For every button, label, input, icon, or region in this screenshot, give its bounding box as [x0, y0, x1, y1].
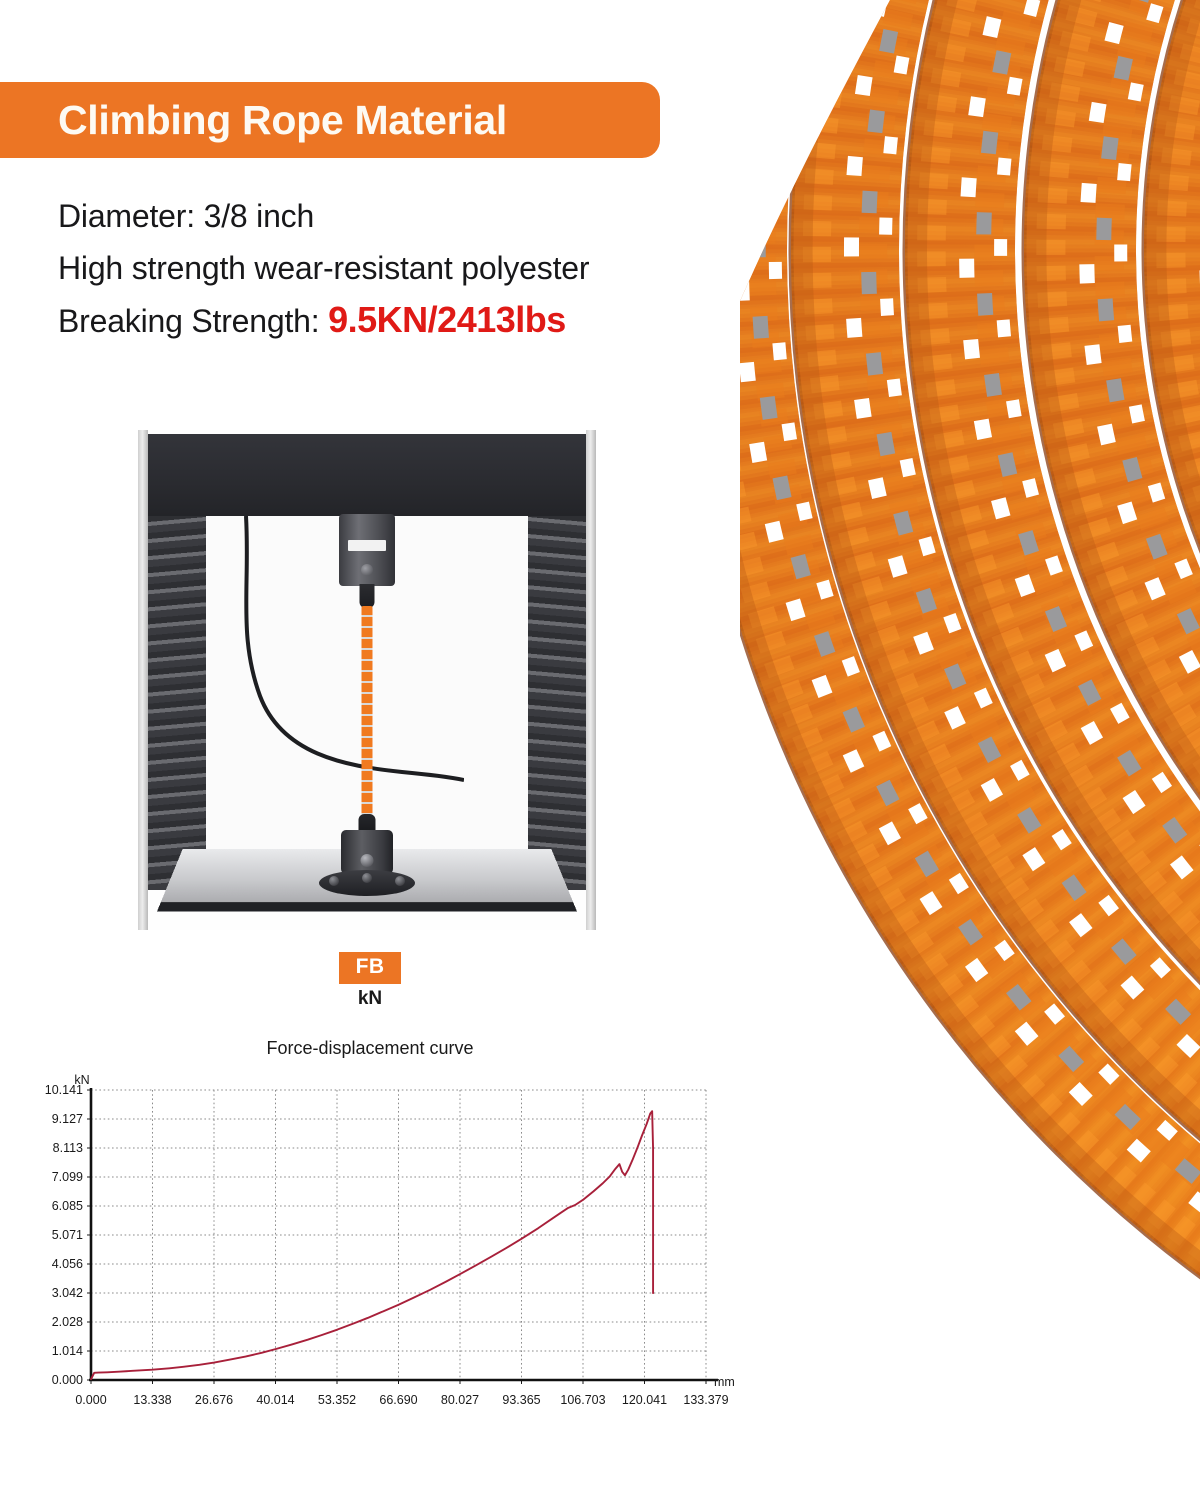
- chart-x-tick: 0.000: [75, 1393, 106, 1407]
- machine-foam-wall-left: [148, 516, 206, 890]
- load-cell-bolt: [361, 854, 374, 867]
- chart-x-tick: 26.676: [195, 1393, 233, 1407]
- chart-axis-lines: [89, 1088, 718, 1380]
- machine-foam-wall-right: [528, 516, 586, 890]
- chart-y-tick: 0.000: [52, 1373, 83, 1387]
- grip-slot: [348, 540, 386, 551]
- spec-breaking-label: Breaking Strength:: [58, 303, 328, 339]
- page-title: Climbing Rope Material: [0, 100, 507, 141]
- spec-material-text: High strength wear-resistant polyester: [58, 250, 589, 286]
- flange-bolt: [329, 876, 339, 886]
- left-content-column: Climbing Rope Material Diameter: 3/8 inc…: [0, 0, 740, 1500]
- chart-x-tick-labels: 0.00013.33826.67640.01453.35266.69080.02…: [75, 1393, 728, 1407]
- spec-list: Diameter: 3/8 inch High strength wear-re…: [58, 190, 718, 347]
- chart-x-tick: 13.338: [133, 1393, 171, 1407]
- spec-diameter-text: Diameter: 3/8 inch: [58, 198, 314, 234]
- chart-x-tick: 120.041: [622, 1393, 667, 1407]
- machine-crosshead: [148, 434, 586, 516]
- spec-material: High strength wear-resistant polyester: [58, 242, 718, 294]
- chart-y-tick: 7.099: [52, 1170, 83, 1184]
- spec-diameter: Diameter: 3/8 inch: [58, 190, 718, 242]
- chart-y-tick-labels: 0.0001.0142.0283.0424.0565.0716.0857.099…: [45, 1083, 83, 1387]
- machine-frame-rail-right: [586, 430, 596, 930]
- chart-x-axis-unit: mm: [714, 1375, 735, 1389]
- fb-unit-label: kN: [0, 988, 740, 1010]
- chart-line-series: [91, 1111, 653, 1379]
- chart-y-tick: 6.085: [52, 1199, 83, 1213]
- page-title-banner: Climbing Rope Material: [0, 82, 660, 158]
- chart-y-tick: 8.113: [53, 1141, 83, 1155]
- machine-upper-grip: [339, 514, 395, 586]
- chart-y-tick: 4.056: [52, 1257, 83, 1271]
- chart-y-tick: 1.014: [52, 1344, 83, 1358]
- grip-bolt: [361, 564, 373, 576]
- chart-svg: 0.0001.0142.0283.0424.0565.0716.0857.099…: [0, 1070, 740, 1440]
- spec-breaking-strength: Breaking Strength: 9.5KN/2413lbs: [58, 294, 718, 347]
- chart-x-tick: 80.027: [441, 1393, 479, 1407]
- tensile-test-machine-photo: [138, 430, 596, 930]
- flange-bolt: [395, 876, 405, 886]
- machine-load-cell: [341, 830, 393, 874]
- chart-x-tick: 66.690: [379, 1393, 417, 1407]
- upper-grip-neck: [360, 584, 375, 608]
- chart-x-tick: 106.703: [560, 1393, 605, 1407]
- chart-y-tick: 2.028: [52, 1315, 83, 1329]
- chart-x-tick: 53.352: [318, 1393, 356, 1407]
- chart-y-tick: 9.127: [52, 1112, 83, 1126]
- chart-title: Force-displacement curve: [0, 1038, 740, 1059]
- fb-legend-block: FB kN: [0, 952, 740, 1010]
- flange-bolt: [362, 873, 372, 883]
- load-cell-mounting-flange: [319, 870, 415, 896]
- chart-y-tick: 3.042: [52, 1286, 83, 1300]
- chart-x-tick: 133.379: [683, 1393, 728, 1407]
- spec-breaking-value: 9.5KN/2413lbs: [328, 299, 566, 340]
- chart-series: [91, 1111, 653, 1379]
- chart-x-tick: 40.014: [256, 1393, 294, 1407]
- rope-specimen-under-test: [362, 606, 373, 818]
- chart-y-axis-unit: kN: [74, 1073, 89, 1087]
- force-displacement-chart: 0.0001.0142.0283.0424.0565.0716.0857.099…: [0, 1070, 740, 1440]
- fb-badge: FB: [339, 952, 402, 984]
- chart-x-tick: 93.365: [502, 1393, 540, 1407]
- chart-y-tick: 5.071: [52, 1228, 83, 1242]
- chart-gridlines: [87, 1090, 706, 1384]
- machine-frame-rail-left: [138, 430, 148, 930]
